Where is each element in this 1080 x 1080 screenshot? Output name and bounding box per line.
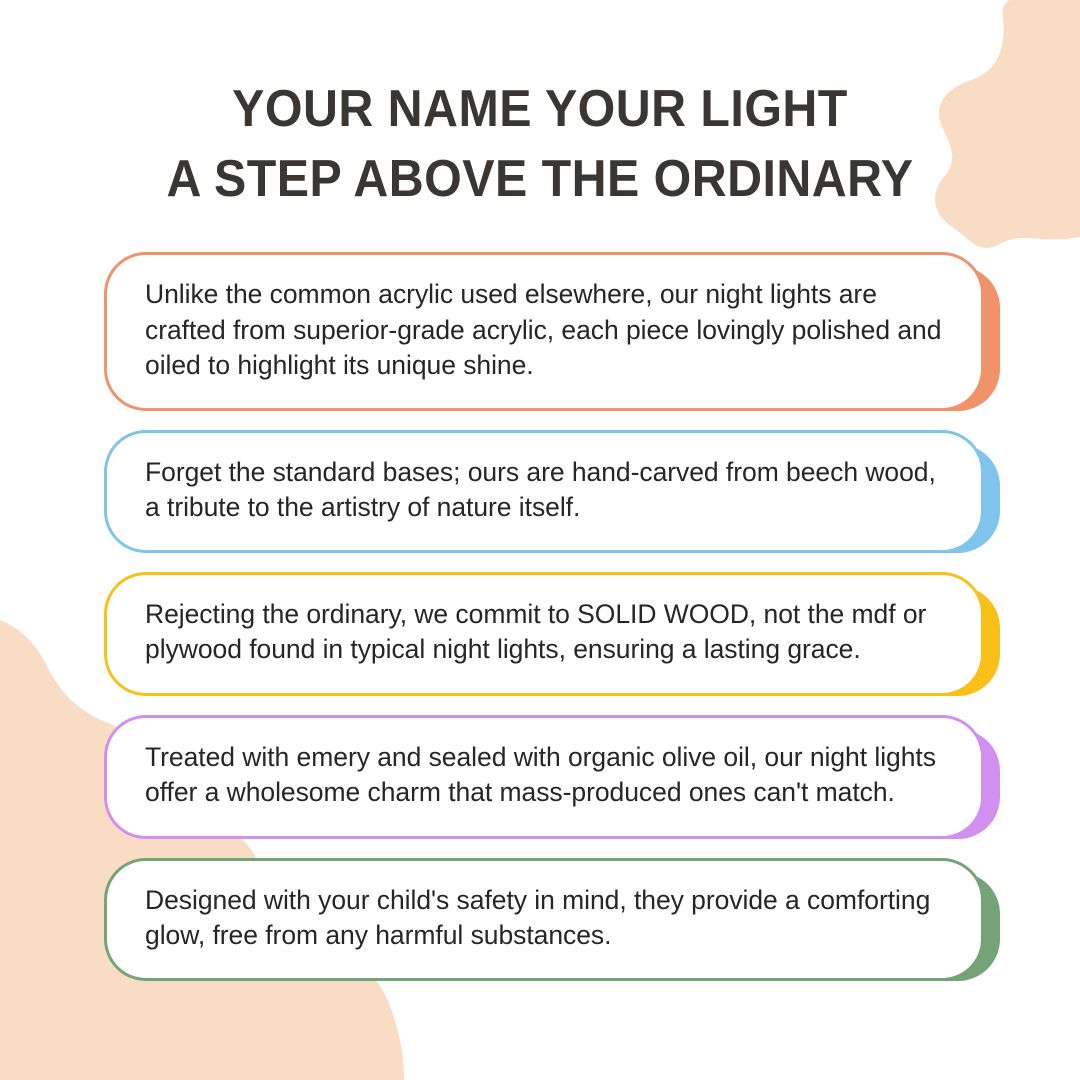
card-text: Unlike the common acrylic used elsewhere… bbox=[145, 277, 943, 384]
card-body: Designed with your child's safety in min… bbox=[104, 858, 984, 981]
feature-card-olive-oil-finish: Treated with emery and sealed with organ… bbox=[104, 715, 1000, 839]
page-title-line-1: YOUR NAME YOUR LIGHT bbox=[38, 74, 1042, 144]
feature-card-list: Unlike the common acrylic used elsewhere… bbox=[104, 252, 1000, 981]
card-text: Rejecting the ordinary, we commit to SOL… bbox=[145, 597, 943, 668]
feature-card-solid-wood: Rejecting the ordinary, we commit to SOL… bbox=[104, 572, 1000, 696]
feature-card-acrylic-quality: Unlike the common acrylic used elsewhere… bbox=[104, 252, 1000, 411]
card-text: Treated with emery and sealed with organ… bbox=[145, 740, 943, 811]
card-body: Treated with emery and sealed with organ… bbox=[104, 715, 984, 839]
page-title: YOUR NAME YOUR LIGHT A STEP ABOVE THE OR… bbox=[0, 74, 1080, 214]
card-text: Forget the standard bases; ours are hand… bbox=[145, 455, 943, 526]
card-body: Rejecting the ordinary, we commit to SOL… bbox=[104, 572, 984, 696]
card-body: Forget the standard bases; ours are hand… bbox=[104, 430, 984, 553]
page-title-line-2: A STEP ABOVE THE ORDINARY bbox=[38, 144, 1042, 214]
feature-card-child-safety: Designed with your child's safety in min… bbox=[104, 858, 1000, 981]
feature-card-beech-wood-base: Forget the standard bases; ours are hand… bbox=[104, 430, 1000, 553]
card-text: Designed with your child's safety in min… bbox=[145, 883, 943, 954]
card-body: Unlike the common acrylic used elsewhere… bbox=[104, 252, 984, 411]
